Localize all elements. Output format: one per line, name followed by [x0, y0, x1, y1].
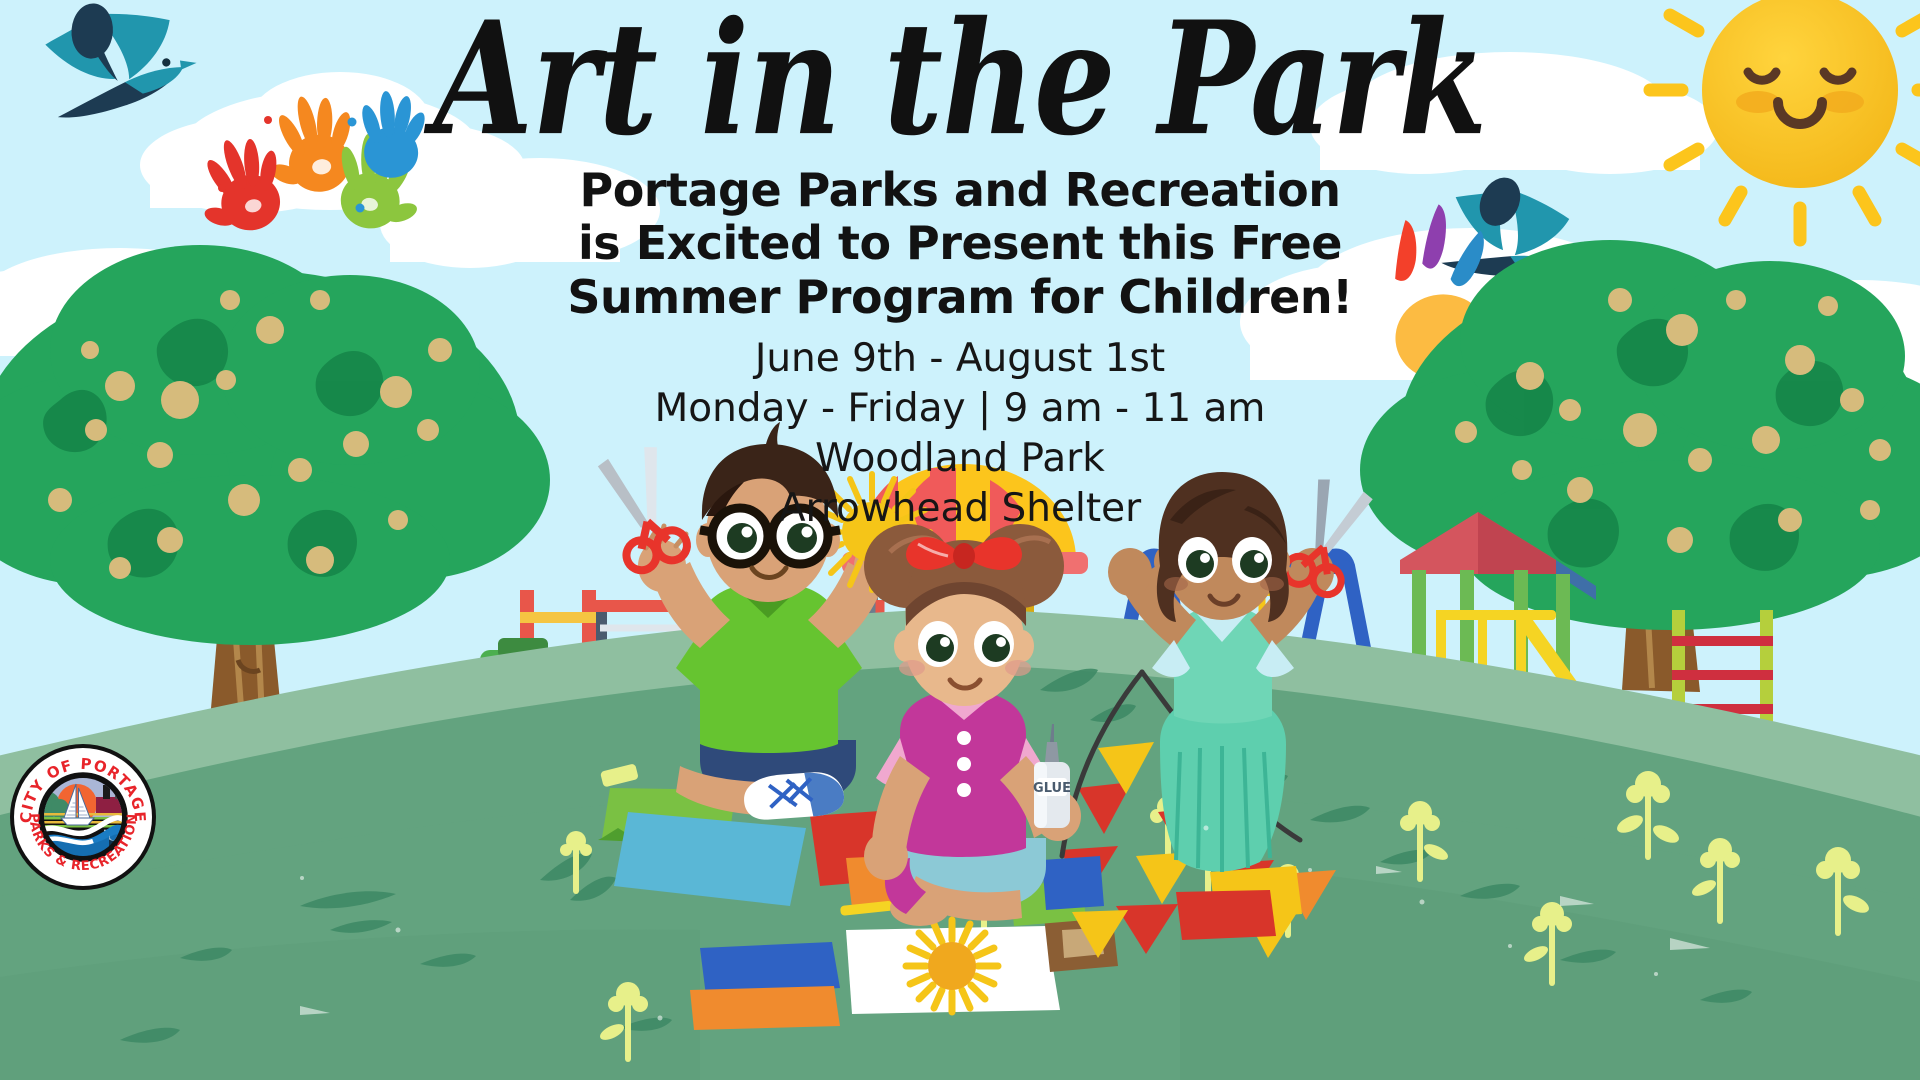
poster-canvas: GLUE — [0, 0, 1920, 1080]
scene-illustration: GLUE — [0, 0, 1920, 1080]
buttons — [957, 731, 971, 797]
sun-disc — [1702, 0, 1898, 188]
paper-sun-art — [906, 920, 998, 1012]
hand-left — [1108, 548, 1152, 596]
svg-text:GLUE: GLUE — [1033, 781, 1071, 796]
city-of-portage-logo[interactable]: CITY OF PORTAGE PARKS & RECREATION — [8, 742, 158, 892]
